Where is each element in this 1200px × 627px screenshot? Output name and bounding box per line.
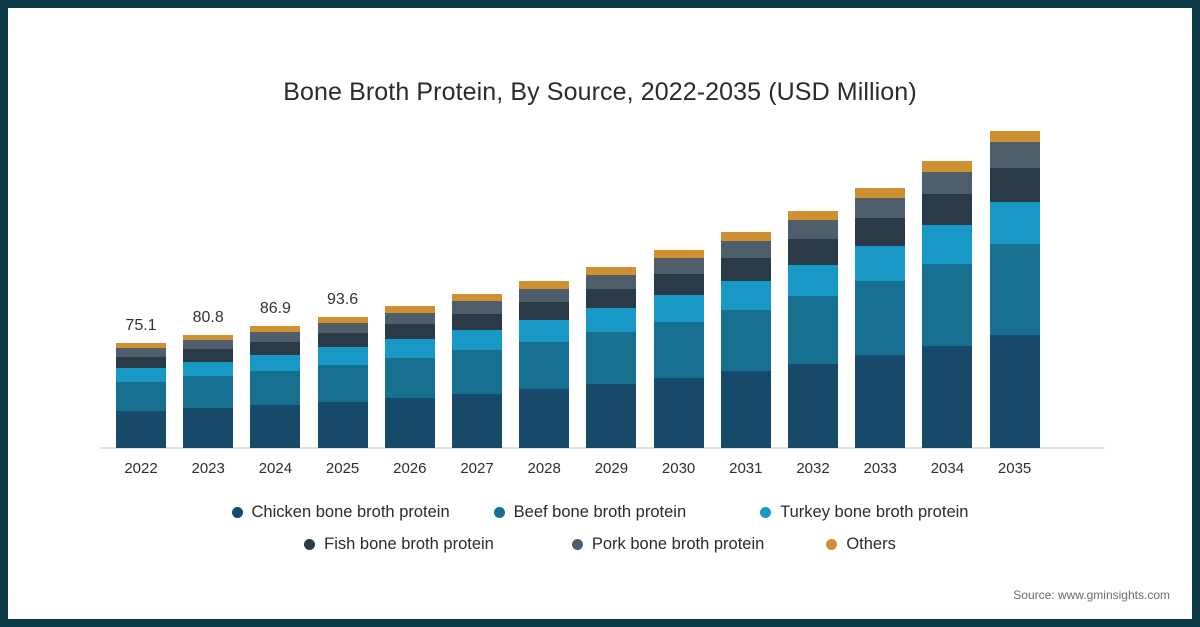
- bar-segment[interactable]: [385, 313, 435, 324]
- bar-segment[interactable]: [318, 333, 368, 347]
- bar-segment[interactable]: [586, 289, 636, 308]
- bar-segment[interactable]: [922, 161, 972, 171]
- bar-segment[interactable]: [452, 330, 502, 350]
- stacked-bar[interactable]: [183, 335, 233, 448]
- legend-swatch-icon: [304, 539, 315, 550]
- stacked-bar[interactable]: [116, 343, 166, 448]
- stacked-bar[interactable]: [452, 294, 502, 448]
- legend-label: Pork bone broth protein: [592, 535, 764, 554]
- bar-segment[interactable]: [654, 250, 704, 258]
- bar-segment[interactable]: [183, 362, 233, 377]
- bar-segment[interactable]: [183, 376, 233, 408]
- legend-item[interactable]: Pork bone broth protein: [572, 535, 764, 554]
- stacked-bar[interactable]: [586, 267, 636, 448]
- stacked-bar[interactable]: [721, 232, 771, 448]
- legend-row: Fish bone broth proteinPork bone broth p…: [8, 528, 1192, 560]
- bar-segment[interactable]: [586, 275, 636, 289]
- frame-border-left: [0, 0, 8, 627]
- bar-segment[interactable]: [385, 398, 435, 448]
- bar-segment[interactable]: [990, 142, 1040, 167]
- legend-label: Fish bone broth protein: [324, 535, 494, 554]
- bar-segment[interactable]: [855, 198, 905, 219]
- bar-segment[interactable]: [250, 342, 300, 355]
- bar-segment[interactable]: [318, 323, 368, 333]
- bar-segment[interactable]: [855, 281, 905, 355]
- bar-segment[interactable]: [519, 289, 569, 302]
- bar-segment[interactable]: [654, 295, 704, 321]
- stacked-bar[interactable]: [654, 250, 704, 448]
- legend-swatch-icon: [232, 507, 243, 518]
- bar-segment[interactable]: [250, 332, 300, 342]
- legend-item[interactable]: Others: [826, 535, 896, 554]
- bar-segment[interactable]: [318, 365, 368, 402]
- bar-segment[interactable]: [721, 258, 771, 281]
- bar-segment[interactable]: [855, 188, 905, 198]
- bar-segment[interactable]: [586, 308, 636, 332]
- bar-segment[interactable]: [788, 364, 838, 448]
- bar-segment[interactable]: [990, 335, 1040, 448]
- bar-value-label: 93.6: [303, 291, 383, 309]
- frame-border-right: [1192, 0, 1200, 627]
- bar-segment[interactable]: [250, 371, 300, 405]
- bar-segment[interactable]: [654, 378, 704, 448]
- bar-segment[interactable]: [721, 310, 771, 372]
- stacked-bar[interactable]: [922, 161, 972, 448]
- bar-segment[interactable]: [183, 408, 233, 448]
- legend-label: Turkey bone broth protein: [780, 503, 968, 522]
- stacked-bar[interactable]: [318, 317, 368, 448]
- bar-segment[interactable]: [318, 347, 368, 364]
- bar-segment[interactable]: [721, 241, 771, 258]
- bar-segment[interactable]: [116, 411, 166, 448]
- bar-segment[interactable]: [519, 302, 569, 320]
- chart-image: Bone Broth Protein, By Source, 2022-2035…: [0, 0, 1200, 627]
- bar-segment[interactable]: [788, 239, 838, 264]
- stacked-bar[interactable]: [519, 281, 569, 448]
- bar-segment[interactable]: [385, 339, 435, 358]
- stacked-bar[interactable]: [855, 188, 905, 448]
- chart-legend: Chicken bone broth proteinBeef bone brot…: [8, 496, 1192, 560]
- legend-item[interactable]: Chicken bone broth protein: [232, 503, 450, 522]
- bar-segment[interactable]: [922, 172, 972, 195]
- bar-segment[interactable]: [654, 274, 704, 295]
- bar-segment[interactable]: [586, 267, 636, 275]
- legend-item[interactable]: Beef bone broth protein: [494, 503, 686, 522]
- bar-segment[interactable]: [654, 258, 704, 274]
- bar-segment[interactable]: [519, 342, 569, 389]
- stacked-bar[interactable]: [990, 131, 1040, 448]
- bar-segment[interactable]: [250, 355, 300, 371]
- bar-segment[interactable]: [519, 281, 569, 288]
- bar-segment[interactable]: [116, 357, 166, 368]
- bar-segment[interactable]: [452, 294, 502, 301]
- bar-segment[interactable]: [183, 349, 233, 361]
- legend-swatch-icon: [494, 507, 505, 518]
- bar-segment[interactable]: [990, 131, 1040, 142]
- bar-segment[interactable]: [385, 324, 435, 339]
- bar-segment[interactable]: [990, 168, 1040, 202]
- bar-segment[interactable]: [519, 320, 569, 342]
- legend-item[interactable]: Fish bone broth protein: [304, 535, 494, 554]
- bar-segment[interactable]: [922, 225, 972, 263]
- bar-segment[interactable]: [922, 264, 972, 346]
- legend-row: Chicken bone broth proteinBeef bone brot…: [8, 496, 1192, 528]
- bar-segment[interactable]: [855, 218, 905, 246]
- bar-segment[interactable]: [385, 306, 435, 313]
- bar-segment[interactable]: [721, 281, 771, 310]
- frame-border-bottom: [0, 619, 1200, 627]
- bar-segment[interactable]: [250, 405, 300, 448]
- legend-swatch-icon: [572, 539, 583, 550]
- page-title: Bone Broth Protein, By Source, 2022-2035…: [8, 78, 1192, 107]
- bar-segment[interactable]: [654, 322, 704, 378]
- bar-segment[interactable]: [586, 384, 636, 448]
- bar-segment[interactable]: [318, 402, 368, 448]
- bar-segment[interactable]: [586, 332, 636, 384]
- stacked-bar[interactable]: [788, 211, 838, 448]
- bar-segment[interactable]: [116, 348, 166, 356]
- plot-area: 75.180.886.993.6: [100, 118, 1100, 448]
- source-attribution: Source: www.gminsights.com: [1013, 588, 1170, 602]
- legend-item[interactable]: Turkey bone broth protein: [760, 503, 968, 522]
- bar-segment[interactable]: [788, 265, 838, 297]
- bar-segment[interactable]: [116, 368, 166, 382]
- bar-segment[interactable]: [855, 355, 905, 448]
- bar-segment[interactable]: [788, 211, 838, 220]
- bar-segment[interactable]: [990, 202, 1040, 245]
- legend-swatch-icon: [760, 507, 771, 518]
- bar-segment[interactable]: [788, 296, 838, 364]
- bar-segment[interactable]: [721, 232, 771, 241]
- legend-label: Others: [846, 535, 896, 554]
- bar-segment[interactable]: [922, 194, 972, 225]
- bar-segment[interactable]: [855, 246, 905, 281]
- legend-label: Chicken bone broth protein: [252, 503, 450, 522]
- bar-segment[interactable]: [385, 358, 435, 398]
- bar-segment[interactable]: [183, 340, 233, 349]
- bar-segment[interactable]: [452, 394, 502, 448]
- bar-segment[interactable]: [788, 220, 838, 239]
- bar-segment[interactable]: [922, 346, 972, 448]
- bar-segment[interactable]: [452, 301, 502, 313]
- bar-segment[interactable]: [519, 389, 569, 448]
- bar-segment[interactable]: [721, 371, 771, 448]
- stacked-bar[interactable]: [250, 326, 300, 448]
- frame-border-top: [0, 0, 1200, 8]
- bar-segment[interactable]: [990, 244, 1040, 335]
- x-axis-tick-2035: 2035: [975, 460, 1055, 477]
- legend-swatch-icon: [826, 539, 837, 550]
- bar-segment[interactable]: [452, 350, 502, 394]
- bar-segment[interactable]: [116, 382, 166, 411]
- bar-segment[interactable]: [452, 314, 502, 330]
- legend-label: Beef bone broth protein: [514, 503, 686, 522]
- stacked-bar[interactable]: [385, 306, 435, 448]
- chart-canvas: Bone Broth Protein, By Source, 2022-2035…: [8, 8, 1192, 619]
